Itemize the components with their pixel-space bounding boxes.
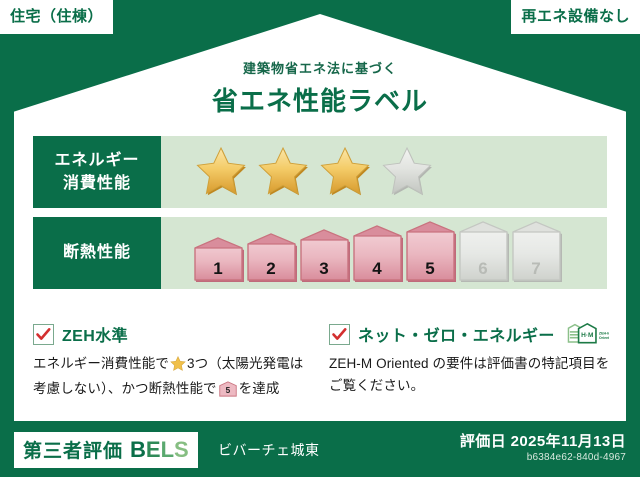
note-zeh-standard-body: エネルギー消費性能で3つ（太陽光発電は考慮しない）、かつ断熱性能で5を達成	[33, 353, 315, 404]
house-icon-filled: 3	[299, 229, 351, 283]
insulation-level-number: 5	[425, 259, 434, 278]
row-energy-performance-label: エネルギー 消費性能	[33, 136, 161, 208]
performance-rows: エネルギー 消費性能 断熱性能 1234567	[33, 136, 607, 298]
insulation-level-number: 2	[266, 259, 275, 278]
star-icon-filled	[317, 145, 373, 199]
house-icon-filled: 5	[405, 221, 457, 283]
svg-text:5: 5	[225, 386, 230, 395]
note-zeh-standard-header: ZEH水準	[33, 322, 315, 346]
note-net-zero-energy-header: ネット・ゼロ・エネルギー H·M ZEH-M Oriented	[329, 322, 611, 346]
row-energy-performance-body	[161, 136, 607, 208]
check-icon	[33, 324, 54, 345]
bels-letter-e: E	[146, 437, 161, 462]
bels-letter-s: S	[174, 437, 189, 462]
note-zeh-standard: ZEH水準 エネルギー消費性能で3つ（太陽光発電は考慮しない）、かつ断熱性能で5…	[33, 322, 315, 404]
badge-renewable-equipment: 再エネ設備なし	[511, 0, 640, 34]
evaluation-date: 評価日 2025年11月13日	[460, 430, 626, 451]
house-icon-filled: 2	[246, 233, 298, 283]
row-insulation-performance: 断熱性能 1234567	[33, 217, 607, 289]
note-zeh-text-pre: エネルギー消費性能で	[33, 356, 169, 371]
bels-certification-chip: 第三者評価 BELS	[14, 432, 198, 468]
building-name: ビバーチェ城東	[218, 440, 320, 460]
note-zeh-standard-title: ZEH水準	[62, 322, 128, 346]
svg-text:H·M: H·M	[581, 332, 593, 339]
badge-building-type: 住宅（住棟）	[0, 0, 113, 34]
notes-section: ZEH水準 エネルギー消費性能で3つ（太陽光発電は考慮しない）、かつ断熱性能で5…	[33, 322, 611, 404]
bels-japanese-text: 第三者評価	[23, 436, 123, 463]
house-icon-empty: 6	[458, 221, 510, 283]
note-net-zero-energy-body: ZEH-M Oriented の要件は評価書の特記項目をご覧ください。	[329, 353, 611, 397]
note-net-zero-energy-title: ネット・ゼロ・エネルギー	[358, 322, 555, 346]
row-energy-performance: エネルギー 消費性能	[33, 136, 607, 208]
note-net-zero-energy: ネット・ゼロ・エネルギー H·M ZEH-M Oriented ZEH-M Or…	[329, 322, 611, 404]
house-icon-filled: 4	[352, 225, 404, 283]
insulation-level-number: 7	[531, 259, 540, 278]
title-subtitle: 建築物省エネ法に基づく	[0, 58, 640, 77]
house-icon-filled: 1	[193, 237, 245, 283]
row-insulation-performance-label: 断熱性能	[33, 217, 161, 289]
bels-wordmark: BELS	[130, 437, 189, 463]
bels-letter-b: B	[130, 437, 146, 462]
star-icon-filled	[255, 145, 311, 199]
note-zeh-text-post: を達成	[239, 381, 280, 396]
insulation-scale: 1234567	[193, 221, 563, 285]
label-title-block: 建築物省エネ法に基づく 省エネ性能ラベル	[0, 58, 640, 118]
page-title: 省エネ性能ラベル	[0, 81, 640, 118]
badge-building-type-text: 住宅（住棟）	[10, 8, 103, 25]
insulation-level-number: 6	[478, 259, 487, 278]
check-icon	[329, 324, 350, 345]
svg-text:Oriented: Oriented	[599, 336, 609, 340]
house-icon-empty: 7	[511, 221, 563, 283]
svg-text:ZEH-M: ZEH-M	[599, 332, 609, 336]
insulation-level-number: 3	[319, 259, 328, 278]
evaluation-id: b6384e62-840d-4967	[527, 452, 626, 463]
star-icon-empty	[379, 145, 435, 199]
badge-renewable-equipment-text: 再エネ設備なし	[521, 8, 630, 25]
zeh-m-oriented-logo: H·M ZEH-M Oriented	[567, 321, 609, 347]
insulation-level-number: 1	[213, 259, 222, 278]
star-icon-inline	[170, 359, 186, 374]
footer-bar: 第三者評価 BELS ビバーチェ城東 評価日 2025年11月13日 b6384…	[0, 421, 640, 477]
insulation-level-number: 4	[372, 259, 382, 278]
star-rating	[193, 145, 435, 199]
row-insulation-performance-body: 1234567	[161, 217, 607, 289]
energy-performance-label: 住宅（住棟） 再エネ設備なし 建築物省エネ法に基づく 省エネ性能ラベル エネルギ…	[0, 0, 640, 477]
star-icon-filled	[193, 145, 249, 199]
house-icon-inline: 5	[219, 385, 237, 400]
bels-letter-l: L	[161, 437, 174, 462]
